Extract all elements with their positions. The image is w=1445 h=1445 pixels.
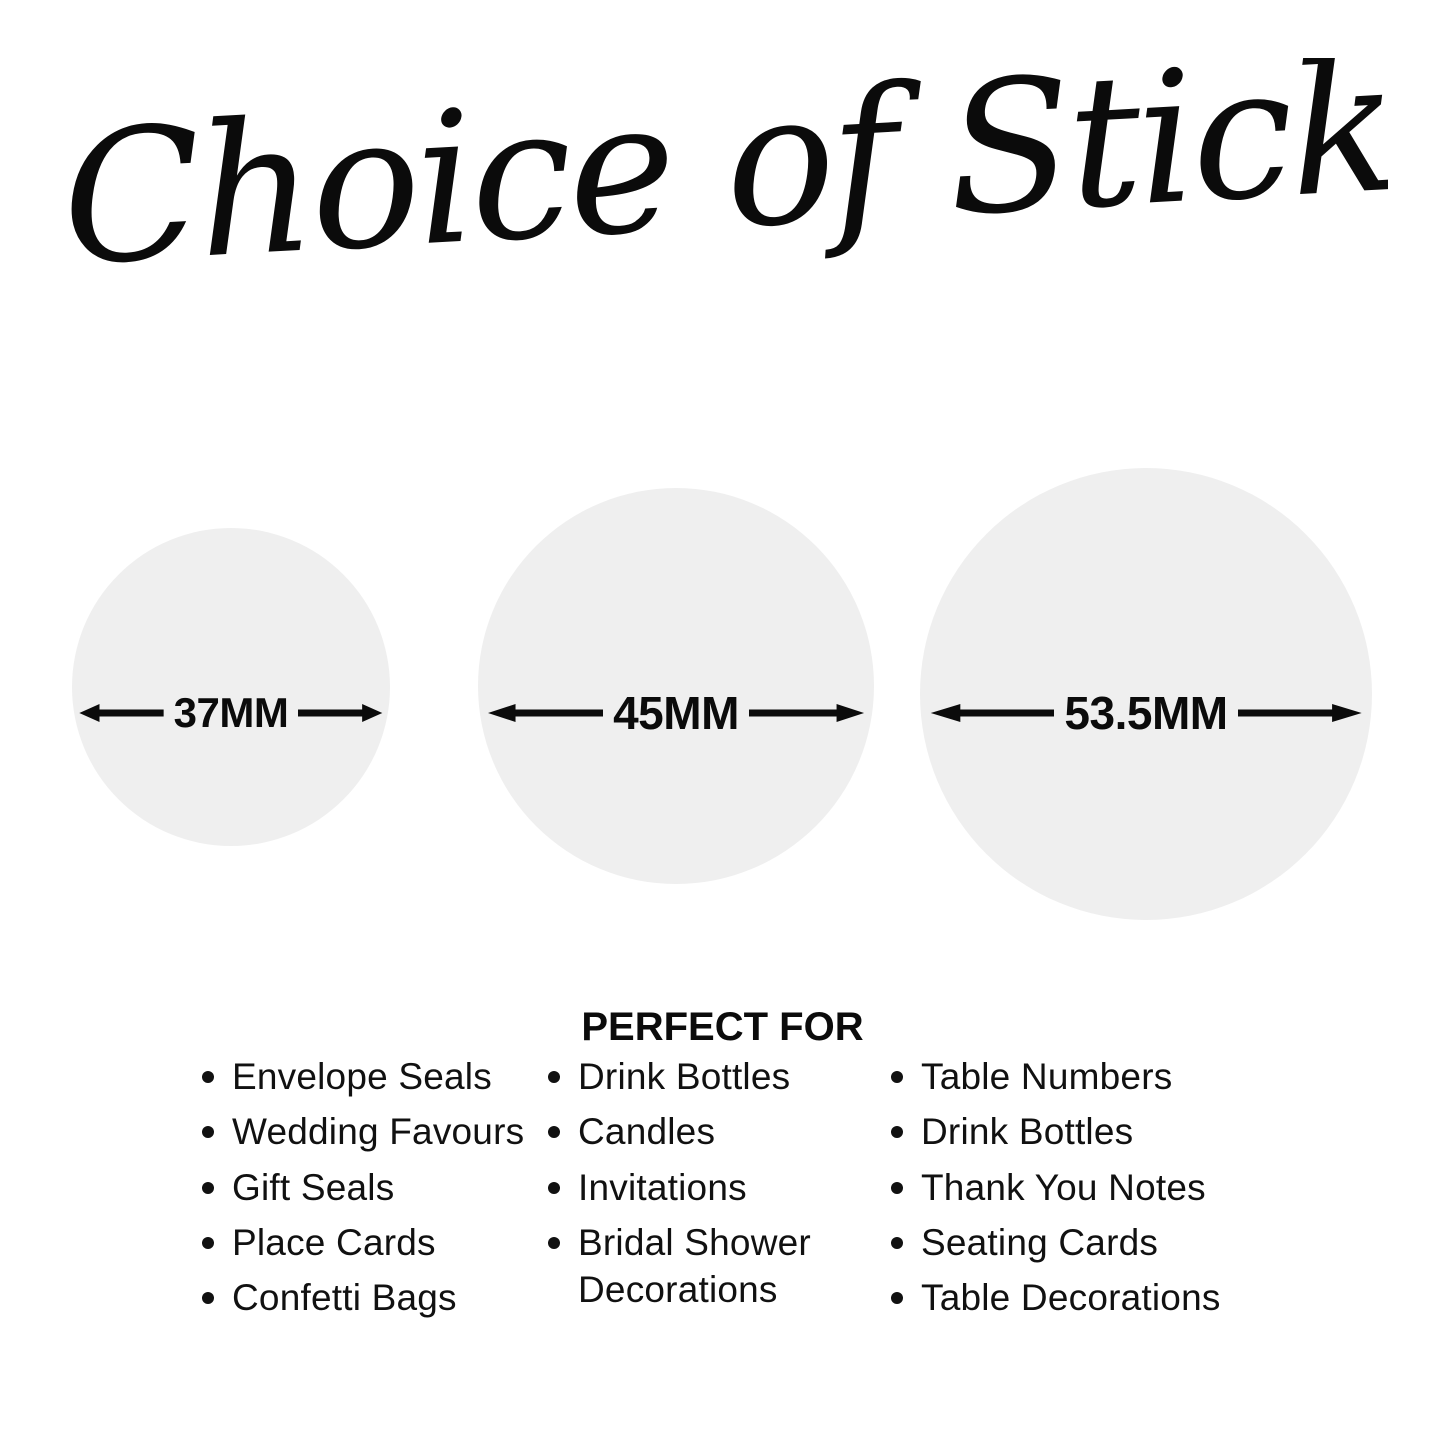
list-item: Bridal Shower Decorations	[542, 1219, 885, 1314]
list-item-label: Confetti Bags	[232, 1277, 457, 1318]
list-item-label: Drink Bottles	[921, 1111, 1133, 1152]
bullet-icon	[548, 1182, 560, 1194]
bullet-icon	[891, 1237, 903, 1249]
bullet-icon	[891, 1126, 903, 1138]
list-item-label: Place Cards	[232, 1222, 436, 1263]
list-item: Place Cards	[196, 1219, 530, 1266]
bullet-icon	[891, 1071, 903, 1083]
list-item-label: Table Numbers	[921, 1056, 1172, 1097]
list-item-label: Invitations	[578, 1167, 747, 1208]
page-title: Choice of Sticker Sizes	[0, 58, 1445, 338]
list-column-2: Drink Bottles Candles Invitations Bridal…	[542, 1053, 885, 1314]
perfect-for-column-1: Envelope Seals Wedding Favours Gift Seal…	[150, 1053, 530, 1330]
bullet-icon	[202, 1237, 214, 1249]
list-column-1: Envelope Seals Wedding Favours Gift Seal…	[196, 1053, 530, 1322]
list-item: Thank You Notes	[885, 1164, 1305, 1211]
title-script-graphic: Choice of Sticker Sizes	[58, 58, 1388, 338]
list-item-label: Drink Bottles	[578, 1056, 790, 1097]
list-item: Seating Cards	[885, 1219, 1305, 1266]
list-item-label: Seating Cards	[921, 1222, 1158, 1263]
list-item-label: Bridal Shower Decorations	[578, 1222, 811, 1310]
list-item: Table Decorations	[885, 1274, 1305, 1321]
bullet-icon	[548, 1071, 560, 1083]
bullet-icon	[202, 1182, 214, 1194]
list-item: Gift Seals	[196, 1164, 530, 1211]
list-item-label: Wedding Favours	[232, 1111, 524, 1152]
bullet-icon	[891, 1292, 903, 1304]
perfect-for-lists: Envelope Seals Wedding Favours Gift Seal…	[150, 1053, 1310, 1330]
list-item: Drink Bottles	[542, 1053, 885, 1100]
perfect-for-column-3: Table Numbers Drink Bottles Thank You No…	[885, 1053, 1305, 1330]
bullet-icon	[548, 1126, 560, 1138]
bullet-icon	[202, 1292, 214, 1304]
sticker-circle-45mm	[478, 488, 874, 884]
bullet-icon	[891, 1182, 903, 1194]
list-item: Candles	[542, 1108, 885, 1155]
perfect-for-column-2: Drink Bottles Candles Invitations Bridal…	[530, 1053, 885, 1322]
bullet-icon	[202, 1071, 214, 1083]
list-item: Table Numbers	[885, 1053, 1305, 1100]
list-item-label: Gift Seals	[232, 1167, 394, 1208]
bullet-icon	[202, 1126, 214, 1138]
page-title-text: Choice of Sticker Sizes	[58, 58, 1388, 306]
sticker-circle-53-5mm	[920, 468, 1372, 920]
list-item: Envelope Seals	[196, 1053, 530, 1100]
list-item: Wedding Favours	[196, 1108, 530, 1155]
list-item: Confetti Bags	[196, 1274, 530, 1321]
sticker-size-row: 37MM 45MM 53.5MM	[0, 440, 1445, 950]
list-item: Invitations	[542, 1164, 885, 1211]
sticker-circle-37mm	[72, 528, 390, 846]
list-item: Drink Bottles	[885, 1108, 1305, 1155]
list-column-3: Table Numbers Drink Bottles Thank You No…	[885, 1053, 1305, 1322]
perfect-for-heading: PERFECT FOR	[0, 1005, 1445, 1049]
list-item-label: Thank You Notes	[921, 1167, 1206, 1208]
sticker-size-infographic: Choice of Sticker Sizes 37MM 45MM	[0, 0, 1445, 1445]
list-item-label: Candles	[578, 1111, 715, 1152]
list-item-label: Envelope Seals	[232, 1056, 492, 1097]
bullet-icon	[548, 1237, 560, 1249]
list-item-label: Table Decorations	[921, 1277, 1221, 1318]
